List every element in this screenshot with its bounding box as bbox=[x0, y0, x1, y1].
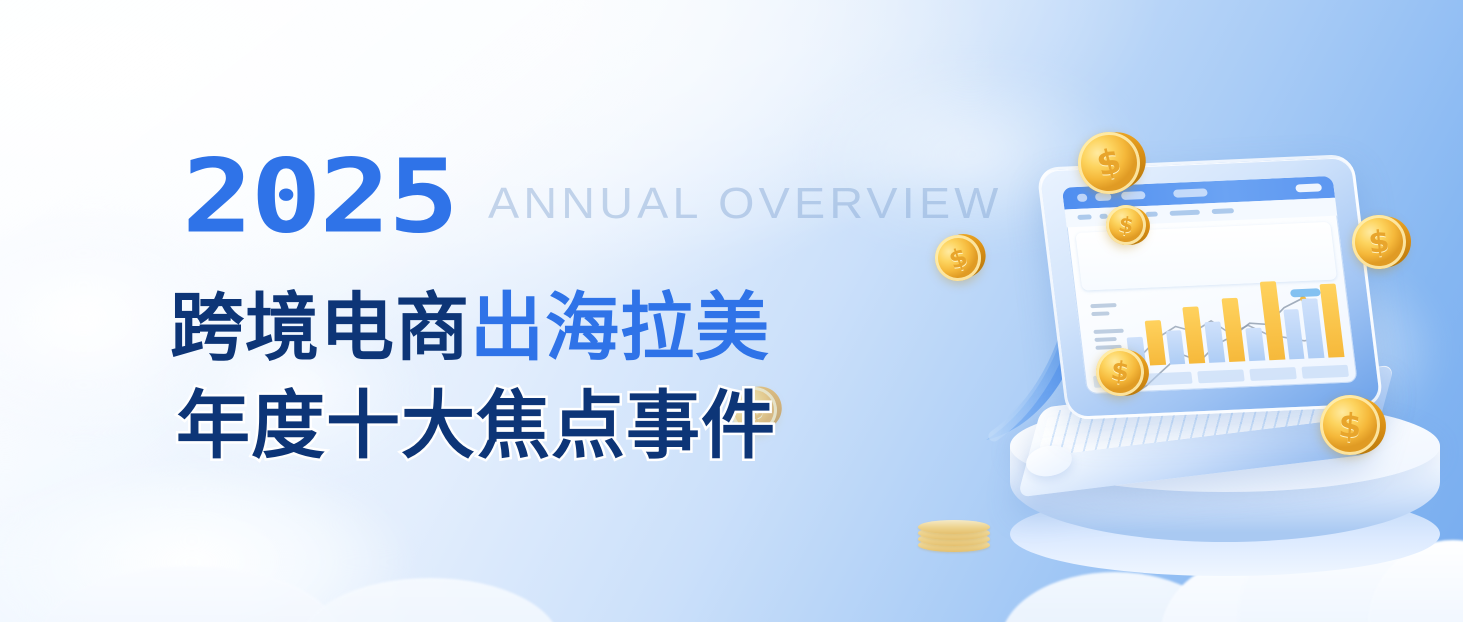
headline-block: 2025 ANNUAL OVERVIEW 跨境电商出海拉美 年度十大焦点事件 bbox=[170, 150, 970, 472]
headline-part-primary: 跨境电商 bbox=[170, 285, 470, 371]
cloud-decoration bbox=[40, 566, 340, 622]
subtitle-text: ANNUAL OVERVIEW bbox=[488, 180, 1003, 228]
promo-banner: $ $ $ $ $ $ $ 2025 bbox=[0, 0, 1463, 622]
bar-chart bbox=[1120, 272, 1345, 367]
headline-part-accent: 出海拉美 bbox=[470, 285, 770, 371]
headline-line-2-text: 年度十大焦点事件 bbox=[176, 383, 776, 469]
hero-illustration: $ $ $ $ $ $ bbox=[900, 90, 1463, 610]
coin-stack bbox=[918, 520, 990, 554]
coin-4: $ bbox=[1093, 345, 1147, 399]
coin-6: $ bbox=[1318, 393, 1382, 457]
coin-5: $ bbox=[1349, 212, 1408, 271]
year-row: 2025 ANNUAL OVERVIEW bbox=[170, 150, 970, 246]
cloud-decoration bbox=[300, 578, 560, 622]
year-text: 2025 bbox=[182, 150, 457, 244]
headline-line-2: 年度十大焦点事件 bbox=[176, 380, 970, 472]
coin-2: $ bbox=[1103, 202, 1149, 248]
headline-line-1: 跨境电商出海拉美 bbox=[170, 282, 970, 374]
